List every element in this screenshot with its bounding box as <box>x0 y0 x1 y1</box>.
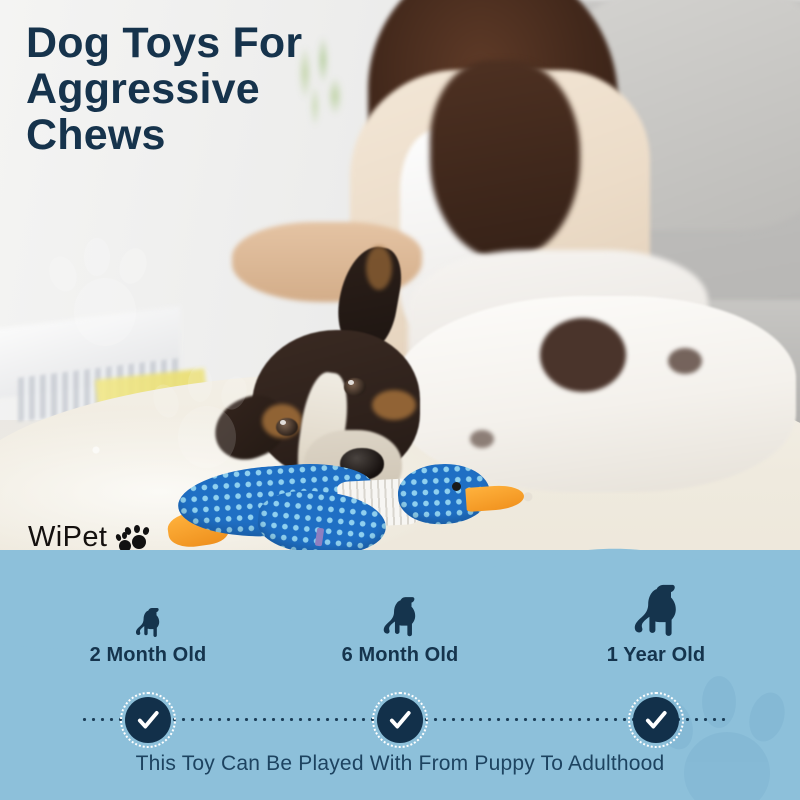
check-badge-6-month <box>372 692 428 748</box>
dog-eye-highlight <box>280 420 286 425</box>
stage-label: 6 Month Old <box>290 644 510 667</box>
headline-line-3: Chews <box>26 112 366 158</box>
paw-print-icon <box>116 525 150 551</box>
badge-disc <box>125 697 171 743</box>
stage-6-month-old: 6 Month Old <box>290 590 510 667</box>
paw-print-watermark <box>44 236 164 348</box>
product-marketing-card: Dog Toys For Aggressive Chews WiPet <box>0 0 800 800</box>
toy-eye <box>452 482 461 491</box>
stage-1-year-old: 1 Year Old <box>546 590 766 667</box>
dog-silhouette-small-icon <box>38 590 258 638</box>
dog-spot <box>540 318 626 392</box>
check-badge-2-month <box>120 692 176 748</box>
badge-disc <box>633 697 679 743</box>
dog-tan-marking <box>366 246 392 290</box>
check-icon <box>135 707 161 733</box>
dog-silhouette-large-icon <box>546 590 766 638</box>
check-badge-1-year <box>628 692 684 748</box>
stage-2-month-old: 2 Month Old <box>38 590 258 667</box>
dog-eye-highlight <box>348 380 354 385</box>
dog-tan-marking <box>372 390 416 420</box>
check-icon <box>643 707 669 733</box>
paw-print-watermark <box>150 366 260 470</box>
check-icon <box>387 707 413 733</box>
stage-label: 2 Month Old <box>38 644 258 667</box>
badge-disc <box>377 697 423 743</box>
dog-spot <box>470 430 494 448</box>
stage-label: 1 Year Old <box>546 644 766 667</box>
woman-hair-front <box>430 60 580 260</box>
panel-caption: This Toy Can Be Played With From Puppy T… <box>0 752 800 776</box>
dog-spot <box>668 348 702 374</box>
headline: Dog Toys For Aggressive Chews <box>26 20 366 158</box>
headline-line-1: Dog Toys For <box>26 20 366 66</box>
headline-line-2: Aggressive <box>26 66 366 112</box>
dog-silhouette-medium-icon <box>290 590 510 638</box>
age-timeline: 2 Month Old 6 Month Old 1 Year Old <box>0 590 800 690</box>
